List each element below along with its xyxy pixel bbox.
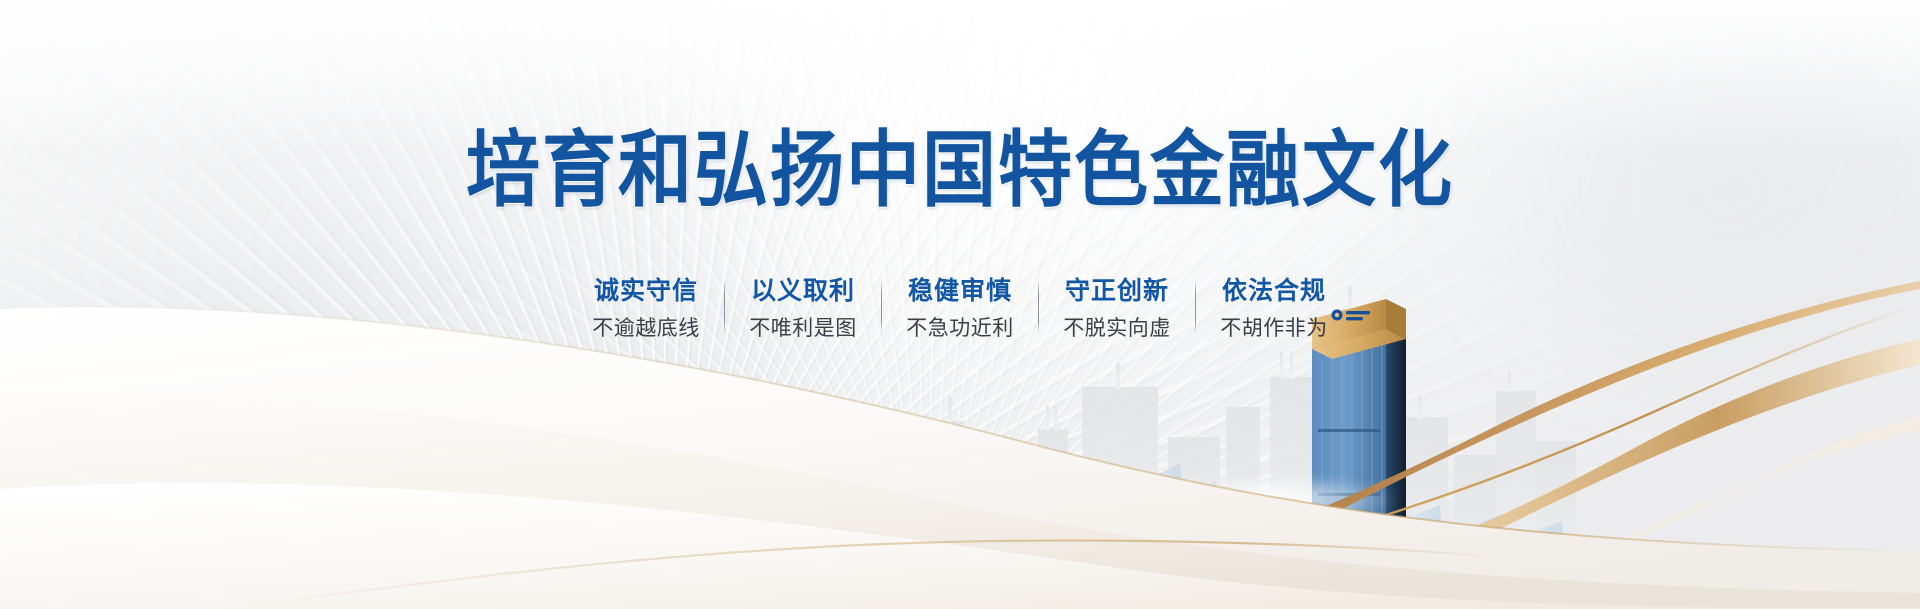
value-item-4: 依法合规 不胡作非为 — [1196, 276, 1352, 341]
value-subtitle: 不急功近利 — [906, 316, 1014, 342]
value-subtitle: 不唯利是图 — [749, 316, 857, 342]
value-item-2: 稳健审慎 不急功近利 — [882, 276, 1038, 341]
banner-title: 培育和弘扬中国特色金融文化 — [0, 129, 1920, 212]
value-subtitle: 不脱实向虚 — [1063, 316, 1171, 342]
value-subtitle: 不胡作非为 — [1220, 316, 1328, 342]
value-item-3: 守正创新 不脱实向虚 — [1039, 276, 1195, 341]
value-title: 诚实守信 — [594, 276, 698, 307]
value-item-1: 以义取利 不唯利是图 — [725, 276, 881, 341]
value-subtitle: 不逾越底线 — [592, 316, 700, 342]
value-title: 稳健审慎 — [908, 276, 1012, 307]
silk-waves — [0, 189, 1920, 609]
value-list: 诚实守信 不逾越底线 以义取利 不唯利是图 稳健审慎 不急功近利 守正创新 不脱… — [0, 276, 1920, 341]
value-title: 守正创新 — [1065, 276, 1169, 307]
finance-culture-banner: 培育和弘扬中国特色金融文化 诚实守信 不逾越底线 以义取利 不唯利是图 稳健审慎… — [0, 0, 1920, 609]
value-title: 以义取利 — [751, 276, 855, 307]
value-item-0: 诚实守信 不逾越底线 — [568, 276, 724, 341]
value-title: 依法合规 — [1222, 276, 1326, 307]
